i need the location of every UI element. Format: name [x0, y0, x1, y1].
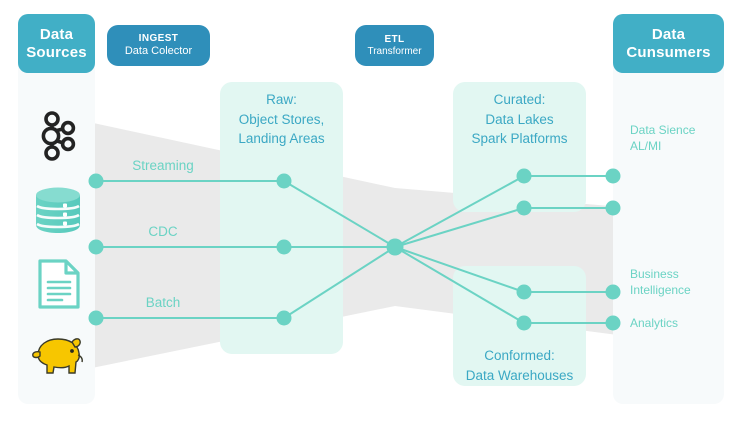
node-consumer-aiml[interactable] — [606, 201, 621, 216]
raw-caption-line2: Object Stores, — [220, 110, 343, 130]
consumers-header-line1: Data — [626, 26, 710, 44]
consumer-group-data-science: Data Sience AL/MI — [630, 122, 695, 154]
curated-zone-caption: Curated: Data Lakes Spark Platforms — [453, 90, 586, 149]
etl-badge-title: ETL — [384, 34, 404, 46]
sources-column-header: Data Sources — [18, 14, 95, 73]
node-source-batch[interactable] — [89, 311, 104, 326]
etl-badge[interactable]: ETL Transformer — [355, 25, 434, 66]
hadoop-icon — [28, 325, 84, 381]
curated-caption-line1: Curated: — [453, 90, 586, 110]
edge-raw-batch-etl — [284, 247, 395, 318]
consumer-bi-line2: Intelligence — [630, 282, 691, 298]
flow-label-cdc: CDC — [118, 224, 208, 239]
curated-caption-line2: Data Lakes — [453, 110, 586, 130]
node-etl-hub[interactable] — [387, 239, 404, 256]
raw-caption-line3: Landing Areas — [220, 129, 343, 149]
kafka-icon — [30, 108, 86, 164]
node-source-streaming[interactable] — [89, 174, 104, 189]
diagram-canvas: Data Sources Data Cunsumers INGEST Data … — [0, 0, 740, 426]
consumer-data-science-line2: AL/MI — [630, 138, 695, 154]
raw-zone-caption: Raw: Object Stores, Landing Areas — [220, 90, 343, 149]
node-conformed-top[interactable] — [517, 285, 532, 300]
ingest-badge-title: INGEST — [139, 33, 179, 45]
node-raw-batch[interactable] — [277, 311, 292, 326]
conformed-zone-caption: Conformed: Data Warehouses — [453, 346, 586, 385]
raw-caption-line1: Raw: — [220, 90, 343, 110]
consumer-group-business-intelligence: Business Intelligence — [630, 266, 691, 298]
consumer-group-analytics: Analytics — [630, 315, 678, 331]
database-icon — [30, 182, 86, 238]
consumer-data-science-line1: Data Sience — [630, 122, 695, 138]
conformed-caption-line2: Data Warehouses — [453, 366, 586, 386]
flow-label-streaming: Streaming — [118, 158, 208, 173]
node-source-cdc[interactable] — [89, 240, 104, 255]
node-conformed-bottom[interactable] — [517, 316, 532, 331]
ingest-badge-subtitle: Data Colector — [125, 45, 192, 58]
edge-etl-curated-top — [395, 176, 524, 247]
node-raw-cdc[interactable] — [277, 240, 292, 255]
node-curated-bottom[interactable] — [517, 201, 532, 216]
consumers-column-header: Data Cunsumers — [613, 14, 724, 73]
sources-header-line2: Sources — [26, 44, 87, 62]
sources-header-line1: Data — [26, 26, 87, 44]
conformed-caption-line1: Conformed: — [453, 346, 586, 366]
node-curated-top[interactable] — [517, 169, 532, 184]
file-icon — [30, 256, 86, 312]
node-consumer-datascience[interactable] — [606, 169, 621, 184]
curated-caption-line3: Spark Platforms — [453, 129, 586, 149]
edge-raw-streaming-etl — [284, 181, 395, 247]
edge-etl-curated-bottom — [395, 208, 524, 247]
node-raw-streaming[interactable] — [277, 174, 292, 189]
node-consumer-bi[interactable] — [606, 285, 621, 300]
etl-badge-subtitle: Transformer — [367, 46, 421, 58]
consumer-bi-line1: Business — [630, 266, 691, 282]
ingest-badge[interactable]: INGEST Data Colector — [107, 25, 210, 66]
flow-label-batch: Batch — [118, 295, 208, 310]
node-consumer-analytics[interactable] — [606, 316, 621, 331]
consumer-analytics-line1: Analytics — [630, 315, 678, 331]
consumers-header-line2: Cunsumers — [626, 44, 710, 62]
